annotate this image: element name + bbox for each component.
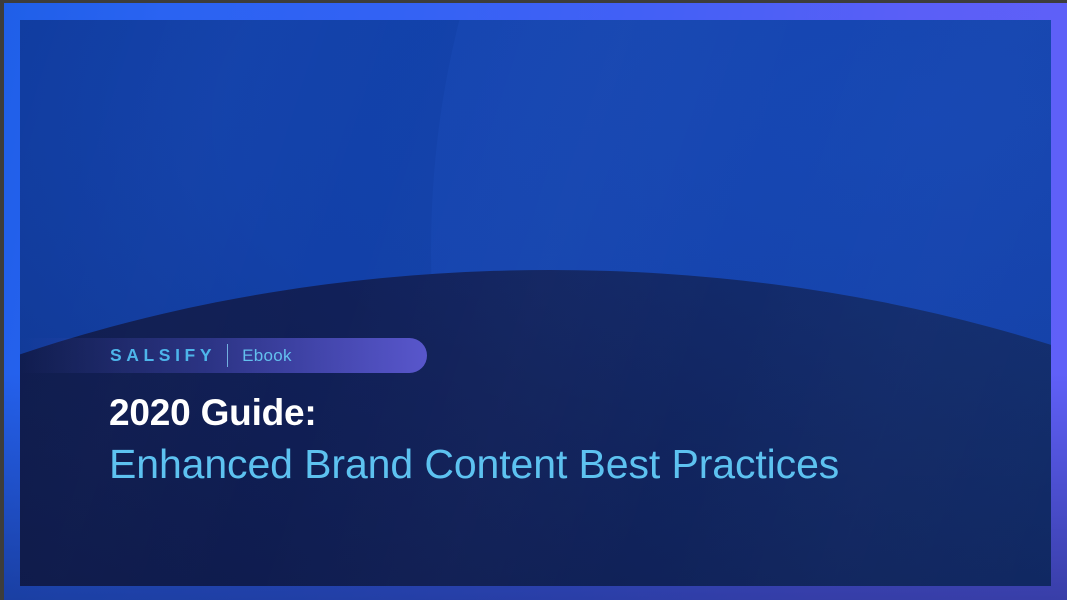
eyebrow-badge-inner: SALSIFY Ebook — [110, 344, 292, 367]
salsify-logo-wordmark: SALSIFY — [110, 347, 216, 365]
content-type-label: Ebook — [242, 347, 292, 364]
cover-content: SALSIFY Ebook 2020 Guide: Enhanced Brand… — [20, 20, 1051, 586]
gradient-border-frame: SALSIFY Ebook 2020 Guide: Enhanced Brand… — [4, 3, 1067, 600]
eyebrow-badge: SALSIFY Ebook — [20, 338, 427, 373]
cover-title-primary: 2020 Guide: — [109, 394, 317, 433]
eyebrow-divider — [227, 344, 228, 367]
cover-artboard: SALSIFY Ebook 2020 Guide: Enhanced Brand… — [20, 20, 1051, 586]
slide-canvas: SALSIFY Ebook 2020 Guide: Enhanced Brand… — [0, 0, 1067, 600]
cover-title-subtitle: Enhanced Brand Content Best Practices — [109, 443, 839, 486]
